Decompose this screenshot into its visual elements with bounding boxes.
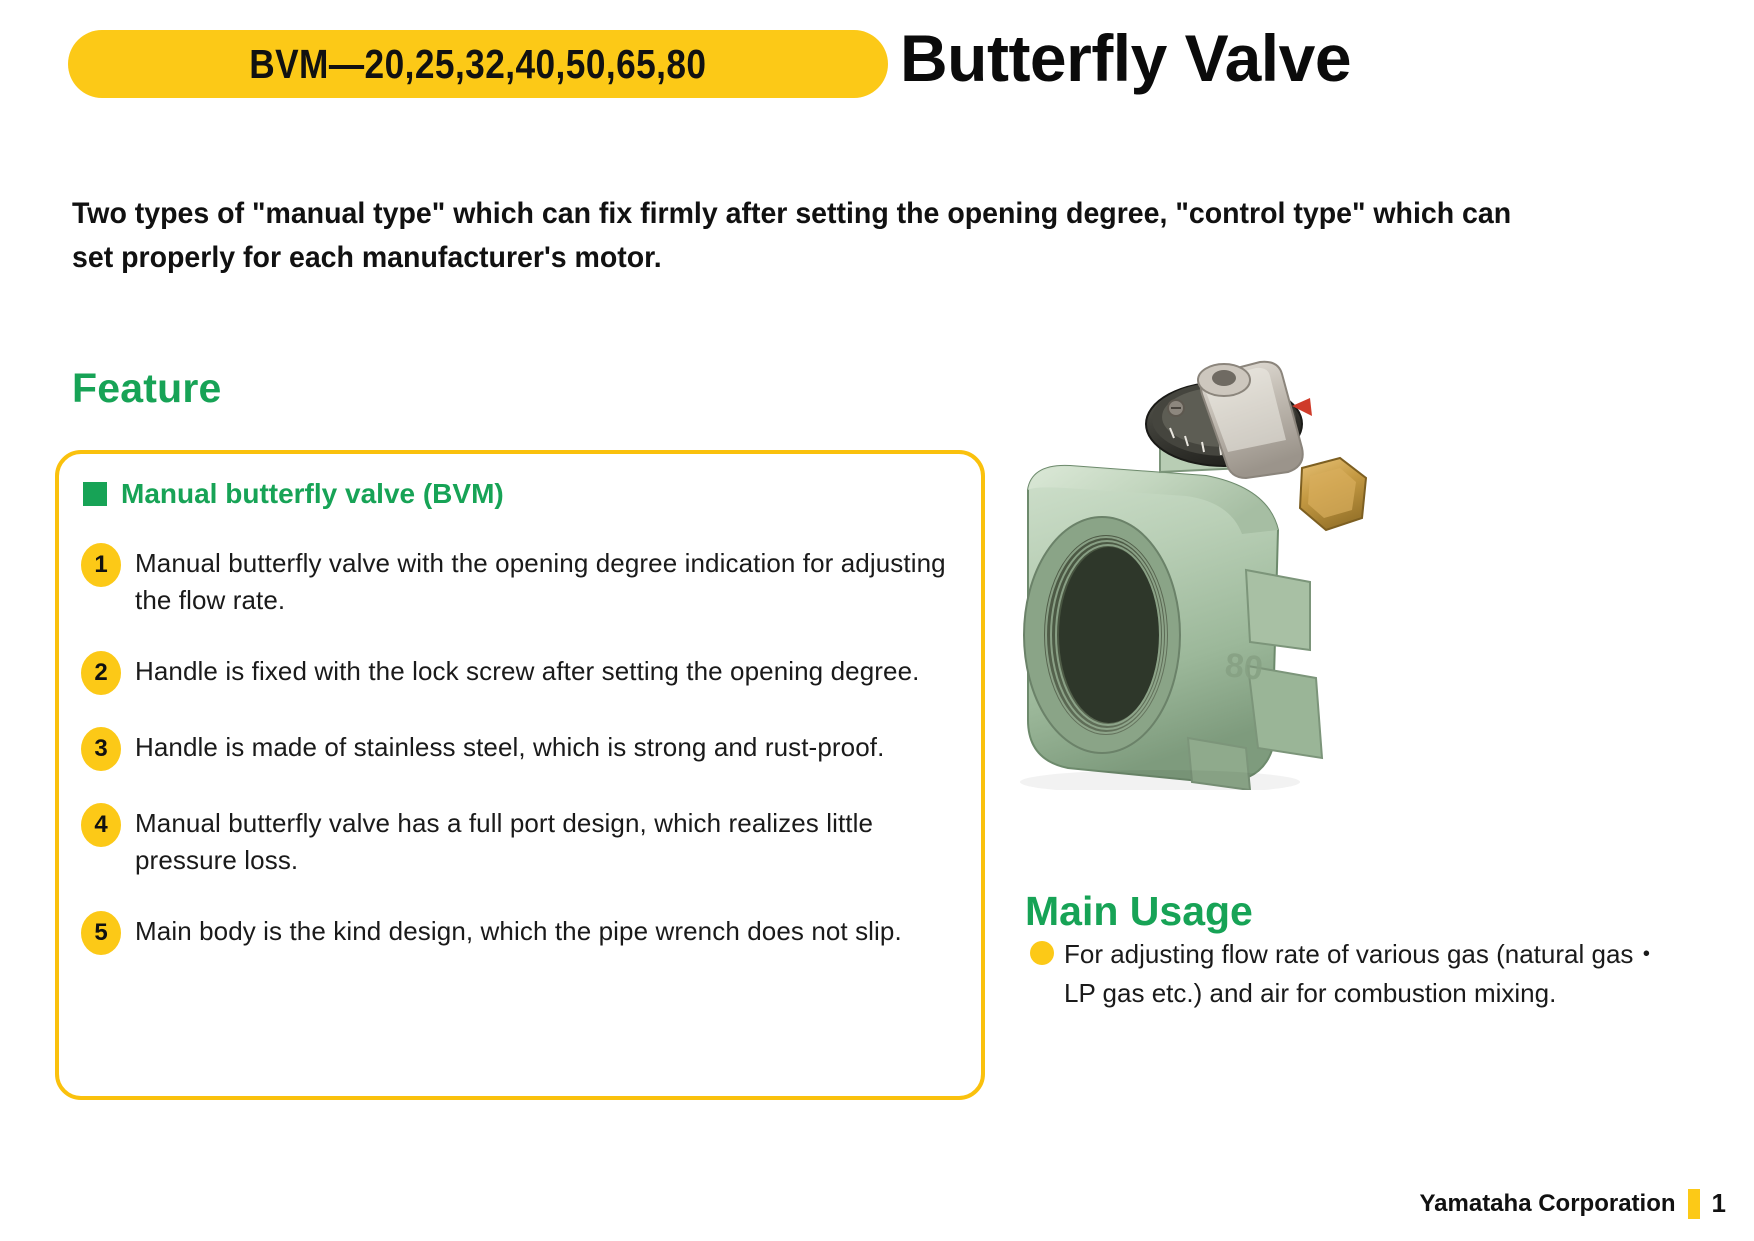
- page-title: Butterfly Valve: [900, 20, 1351, 96]
- item-number-badge: 1: [81, 543, 121, 587]
- item-text: Manual butterfly valve with the opening …: [135, 542, 961, 619]
- item-number-badge: 5: [81, 911, 121, 955]
- model-number-label: BVM—20,25,32,40,50,65,80: [249, 41, 706, 88]
- product-photo: 80: [1010, 320, 1530, 790]
- item-text: Manual butterfly valve has a full port d…: [135, 802, 961, 879]
- intro-paragraph: Two types of "manual type" which can fix…: [72, 192, 1554, 279]
- item-text: Handle is fixed with the lock screw afte…: [135, 650, 919, 690]
- list-item: 5 Main body is the kind design, which th…: [81, 910, 961, 955]
- list-item: 4 Manual butterfly valve has a full port…: [81, 802, 961, 879]
- feature-card: Manual butterfly valve (BVM) 1 Manual bu…: [55, 450, 985, 1100]
- feature-card-heading-label: Manual butterfly valve (BVM): [121, 478, 504, 510]
- usage-section-title: Main Usage: [1025, 888, 1253, 935]
- feature-card-heading: Manual butterfly valve (BVM): [83, 478, 504, 510]
- feature-list: 1 Manual butterfly valve with the openin…: [81, 542, 961, 986]
- model-number-badge: BVM—20,25,32,40,50,65,80: [68, 30, 888, 98]
- footer-company-name: Yamataha Corporation: [1419, 1190, 1675, 1218]
- page-header: BVM—20,25,32,40,50,65,80 Butterfly Valve: [0, 0, 1754, 130]
- item-text: Main body is the kind design, which the …: [135, 910, 902, 950]
- item-text: Handle is made of stainless steel, which…: [135, 726, 884, 766]
- page-footer: Yamataha Corporation 1: [1419, 1188, 1726, 1219]
- square-bullet-icon: [83, 482, 107, 506]
- body-size-marking: 80: [1223, 646, 1265, 688]
- list-item: 3 Handle is made of stainless steel, whi…: [81, 726, 961, 771]
- page-number: 1: [1712, 1188, 1726, 1219]
- list-item: 2 Handle is fixed with the lock screw af…: [81, 650, 961, 695]
- usage-text: For adjusting flow rate of various gas (…: [1064, 935, 1670, 1013]
- circle-bullet-icon: [1030, 941, 1054, 965]
- list-item: 1 Manual butterfly valve with the openin…: [81, 542, 961, 619]
- footer-divider: [1688, 1189, 1700, 1219]
- item-number-badge: 3: [81, 727, 121, 771]
- item-number-badge: 2: [81, 651, 121, 695]
- butterfly-valve-illustration: 80: [1010, 320, 1530, 790]
- item-number-badge: 4: [81, 803, 121, 847]
- usage-item: For adjusting flow rate of various gas (…: [1030, 935, 1670, 1013]
- feature-section-title: Feature: [72, 365, 222, 412]
